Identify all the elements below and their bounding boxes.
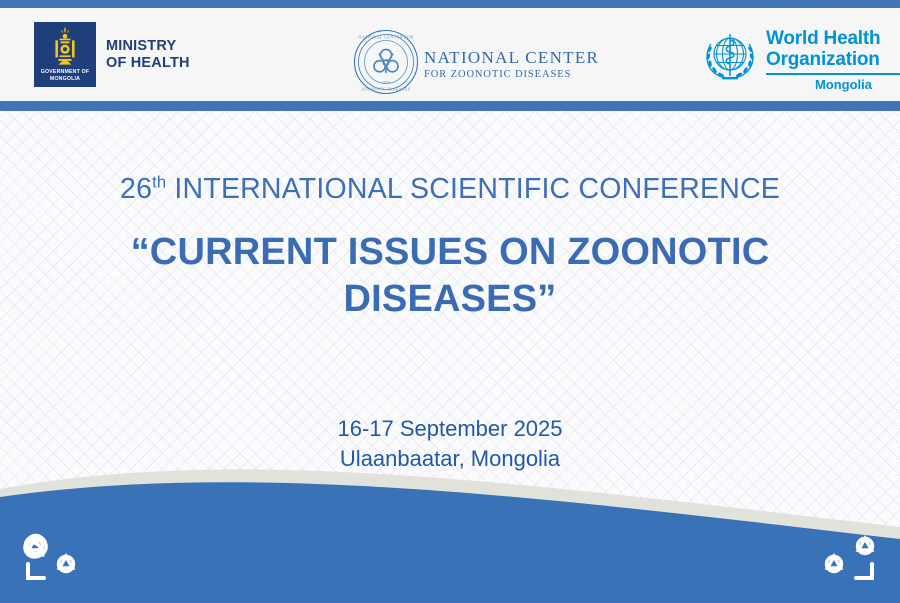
who-divider — [766, 73, 900, 75]
ncz-wordmark: NATIONAL CENTER FOR ZOONOTIC DISEASES — [424, 49, 599, 80]
title-block: 26th INTERNATIONAL SCIENTIFIC CONFERENCE… — [0, 173, 900, 323]
crest-caption: GOVERNMENT OF MONGOLIA — [34, 69, 96, 83]
who-emblem-icon — [700, 28, 760, 93]
ministry-name-line1: MINISTRY — [106, 38, 190, 55]
ulzii-knot-ornament-right — [804, 528, 884, 590]
ministry-name: MINISTRY OF HEALTH — [106, 38, 190, 72]
page-title: “CURRENT ISSUES ON ZOONOTIC DISEASES” — [0, 229, 900, 323]
who-name-line1: World Health — [766, 28, 900, 49]
who-mongolia-logo: World Health Organization Mongolia — [700, 28, 900, 93]
logo-header-band: GOVERNMENT OF MONGOLIA MINISTRY OF HEALT… — [0, 8, 900, 101]
crest-caption-line1: GOVERNMENT OF — [34, 69, 96, 76]
soyombo-icon — [34, 26, 96, 70]
bottom-wave-decoration — [0, 453, 900, 603]
svg-text:NATIONAL CENTER FOR: NATIONAL CENTER FOR — [358, 35, 413, 40]
conference-title-slide: GOVERNMENT OF MONGOLIA MINISTRY OF HEALT… — [0, 0, 900, 603]
ministry-of-health-logo: GOVERNMENT OF MONGOLIA MINISTRY OF HEALT… — [34, 22, 190, 87]
who-name-line2: Organization — [766, 49, 900, 70]
ministry-name-line2: OF HEALTH — [106, 55, 190, 72]
crest-caption-line2: MONGOLIA — [34, 76, 96, 83]
top-accent-bar — [0, 0, 900, 8]
ncz-name-line2: FOR ZOONOTIC DISEASES — [424, 69, 599, 80]
svg-text:ZOONOTIC DISEASES: ZOONOTIC DISEASES — [362, 87, 411, 92]
who-wordmark: World Health Organization Mongolia — [766, 28, 900, 92]
seal-year: 1931 — [382, 80, 390, 85]
wave-blue-shape — [0, 482, 900, 603]
edition-rest: INTERNATIONAL SCIENTIFIC CONFERENCE — [166, 173, 780, 205]
national-center-zoonotic-diseases-logo: NATIONAL CENTER FOR ZOONOTIC DISEASES 19… — [352, 28, 599, 101]
ncz-seal-icon: NATIONAL CENTER FOR ZOONOTIC DISEASES 19… — [352, 28, 420, 101]
edition-number: 26 — [120, 173, 152, 205]
header-accent-bar — [0, 101, 900, 111]
ncz-name-line1: NATIONAL CENTER — [424, 49, 599, 67]
who-country-label: Mongolia — [766, 77, 900, 92]
edition-suffix: th — [152, 173, 166, 192]
conference-edition-line: 26th INTERNATIONAL SCIENTIFIC CONFERENCE — [0, 173, 900, 206]
slide-body: 26th INTERNATIONAL SCIENTIFIC CONFERENCE… — [0, 111, 900, 603]
event-dates: 16-17 September 2025 — [0, 414, 900, 444]
mongolia-government-crest: GOVERNMENT OF MONGOLIA — [34, 22, 96, 87]
ulzii-knot-ornament-left — [16, 528, 96, 590]
